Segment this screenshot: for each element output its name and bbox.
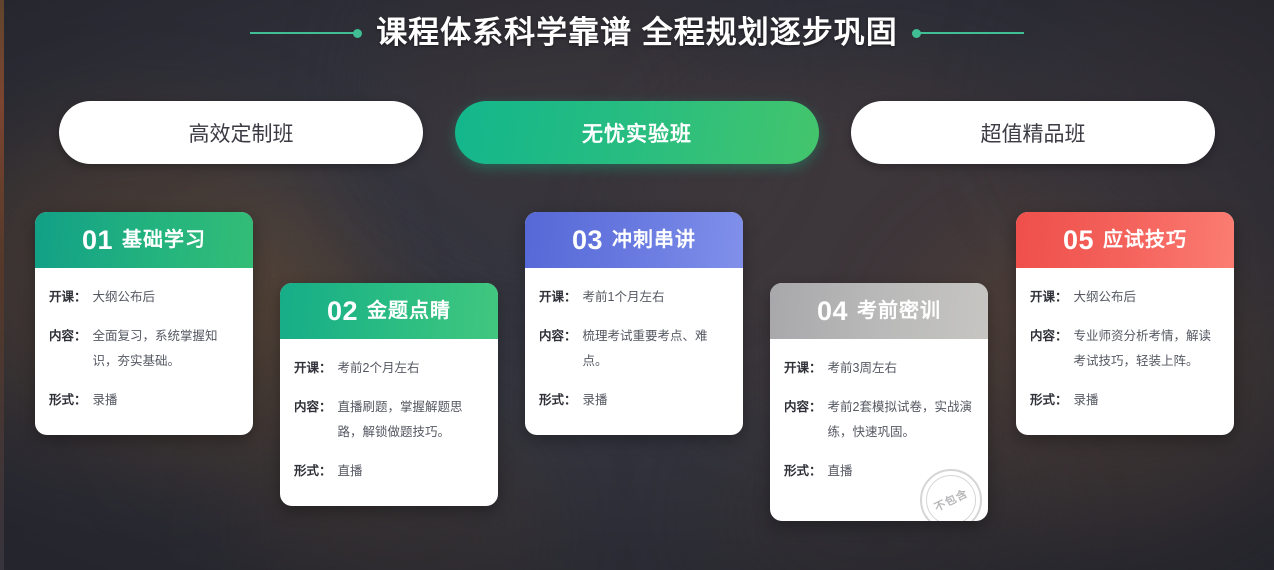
course-card-01[interactable]: 01 基础学习 开课： 大纲公布后 内容： 全面复习，系统掌握知识，夯实基础。 … xyxy=(35,212,253,435)
card-body: 开课： 考前2个月左右 内容： 直播刷题，掌握解题思路，解锁做题技巧。 形式： … xyxy=(280,339,498,506)
value-content: 全面复习，系统掌握知识，夯实基础。 xyxy=(93,324,237,373)
card-number: 04 xyxy=(817,298,848,325)
card-number: 01 xyxy=(82,227,113,254)
value-format: 录播 xyxy=(1074,388,1099,412)
value-format: 录播 xyxy=(93,388,118,412)
value-format: 直播 xyxy=(338,459,363,483)
card-header: 03 冲刺串讲 xyxy=(525,212,743,268)
card-number: 02 xyxy=(327,298,358,325)
card-header: 02 金题点睛 xyxy=(280,283,498,339)
card-row-format: 形式： 直播 xyxy=(294,459,482,483)
value-start: 考前1个月左右 xyxy=(583,285,665,309)
label-format: 形式： xyxy=(1030,388,1068,412)
card-number: 03 xyxy=(572,227,603,254)
card-row-format: 形式： 录播 xyxy=(49,388,237,412)
card-title: 冲刺串讲 xyxy=(612,230,696,250)
card-row-content: 内容： 直播刷题，掌握解题思路，解锁做题技巧。 xyxy=(294,395,482,444)
card-header: 05 应试技巧 xyxy=(1016,212,1234,268)
course-card-02[interactable]: 02 金题点睛 开课： 考前2个月左右 内容： 直播刷题，掌握解题思路，解锁做题… xyxy=(280,283,498,506)
label-content: 内容： xyxy=(1030,324,1068,373)
card-row-start: 开课： 大纲公布后 xyxy=(49,285,237,309)
value-start: 考前3周左右 xyxy=(828,356,897,380)
label-start: 开课： xyxy=(784,356,822,380)
card-row-start: 开课： 考前3周左右 xyxy=(784,356,972,380)
card-number: 05 xyxy=(1063,227,1094,254)
card-row-content: 内容： 全面复习，系统掌握知识，夯实基础。 xyxy=(49,324,237,373)
value-content: 考前2套模拟试卷，实战演练，快速巩固。 xyxy=(828,395,972,444)
card-row-content: 内容： 梳理考试重要考点、难点。 xyxy=(539,324,727,373)
value-start: 大纲公布后 xyxy=(1074,285,1137,309)
value-start: 考前2个月左右 xyxy=(338,356,420,380)
card-body: 开课： 大纲公布后 内容： 专业师资分析考情，解读考试技巧，轻装上阵。 形式： … xyxy=(1016,268,1234,435)
card-row-start: 开课： 大纲公布后 xyxy=(1030,285,1218,309)
label-start: 开课： xyxy=(1030,285,1068,309)
label-start: 开课： xyxy=(294,356,332,380)
label-format: 形式： xyxy=(539,388,577,412)
value-content: 梳理考试重要考点、难点。 xyxy=(583,324,727,373)
card-row-format: 形式： 直播 xyxy=(784,459,972,483)
card-title: 考前密训 xyxy=(857,301,941,321)
card-title: 金题点睛 xyxy=(367,301,451,321)
label-start: 开课： xyxy=(49,285,87,309)
course-stage-cards: 01 基础学习 开课： 大纲公布后 内容： 全面复习，系统掌握知识，夯实基础。 … xyxy=(0,0,1274,570)
card-row-content: 内容： 专业师资分析考情，解读考试技巧，轻装上阵。 xyxy=(1030,324,1218,373)
label-content: 内容： xyxy=(294,395,332,444)
label-format: 形式： xyxy=(49,388,87,412)
card-row-format: 形式： 录播 xyxy=(539,388,727,412)
value-start: 大纲公布后 xyxy=(93,285,156,309)
card-header: 04 考前密训 xyxy=(770,283,988,339)
label-start: 开课： xyxy=(539,285,577,309)
value-format: 录播 xyxy=(583,388,608,412)
card-body: 开课： 考前1个月左右 内容： 梳理考试重要考点、难点。 形式： 录播 xyxy=(525,268,743,435)
label-content: 内容： xyxy=(49,324,87,373)
card-title: 基础学习 xyxy=(122,230,206,250)
card-title: 应试技巧 xyxy=(1103,230,1187,250)
label-content: 内容： xyxy=(539,324,577,373)
label-format: 形式： xyxy=(294,459,332,483)
value-content: 专业师资分析考情，解读考试技巧，轻装上阵。 xyxy=(1074,324,1218,373)
course-card-05[interactable]: 05 应试技巧 开课： 大纲公布后 内容： 专业师资分析考情，解读考试技巧，轻装… xyxy=(1016,212,1234,435)
card-row-start: 开课： 考前1个月左右 xyxy=(539,285,727,309)
label-format: 形式： xyxy=(784,459,822,483)
value-format: 直播 xyxy=(828,459,853,483)
value-content: 直播刷题，掌握解题思路，解锁做题技巧。 xyxy=(338,395,482,444)
card-header: 01 基础学习 xyxy=(35,212,253,268)
card-body: 开课： 大纲公布后 内容： 全面复习，系统掌握知识，夯实基础。 形式： 录播 xyxy=(35,268,253,435)
course-card-04[interactable]: 04 考前密训 开课： 考前3周左右 内容： 考前2套模拟试卷，实战演练，快速巩… xyxy=(770,283,988,521)
card-body: 开课： 考前3周左右 内容： 考前2套模拟试卷，实战演练，快速巩固。 形式： 直… xyxy=(770,339,988,521)
label-content: 内容： xyxy=(784,395,822,444)
card-row-format: 形式： 录播 xyxy=(1030,388,1218,412)
course-card-03[interactable]: 03 冲刺串讲 开课： 考前1个月左右 内容： 梳理考试重要考点、难点。 形式：… xyxy=(525,212,743,435)
card-row-content: 内容： 考前2套模拟试卷，实战演练，快速巩固。 xyxy=(784,395,972,444)
stamp-label: 不包含 xyxy=(931,484,970,514)
card-row-start: 开课： 考前2个月左右 xyxy=(294,356,482,380)
